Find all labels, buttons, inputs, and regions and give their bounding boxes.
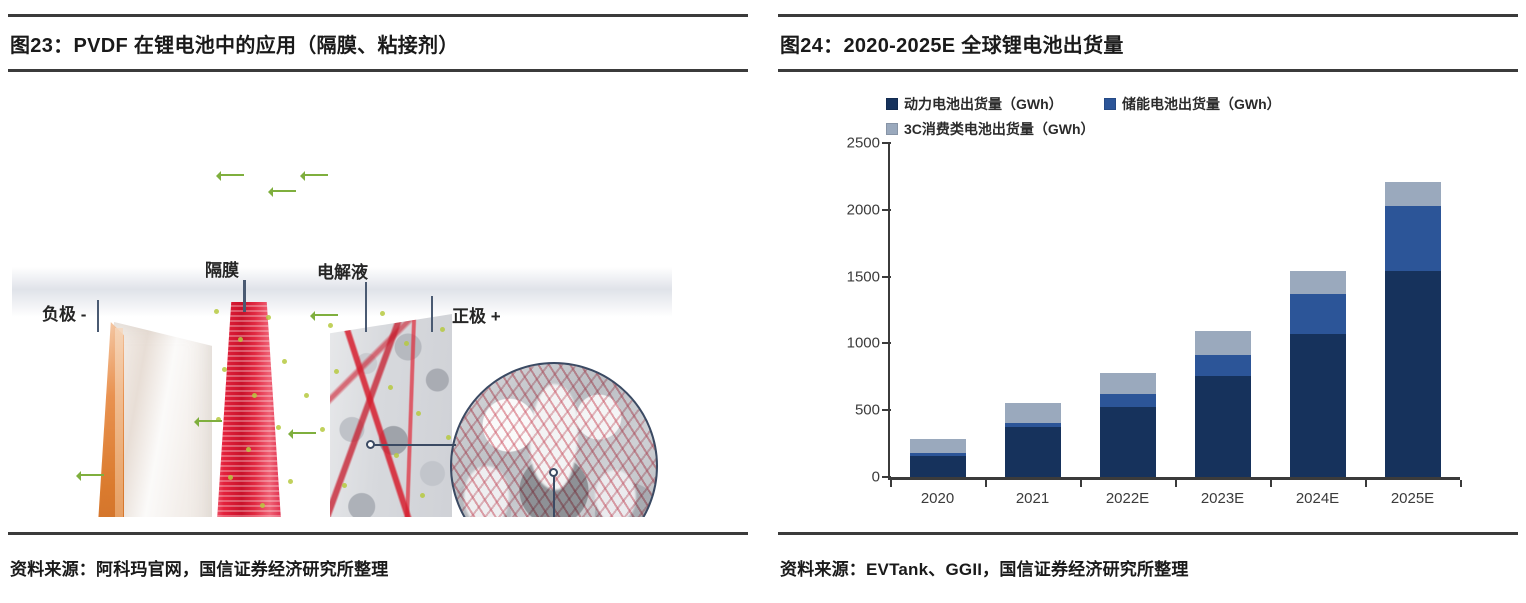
label-separator: 隔膜 bbox=[205, 256, 239, 281]
panel-source-rule bbox=[778, 532, 1518, 535]
legend-label-consumer-3c: 3C消费类电池出货量（GWh） bbox=[904, 119, 1095, 139]
magnifier-leader bbox=[553, 472, 555, 517]
legend-item-energy-storage[interactable]: 储能电池出货量（GWh） bbox=[1104, 94, 1281, 114]
figure-24-source: 资料来源：EVTank、GGII，国信证券经济研究所整理 bbox=[780, 555, 1189, 580]
x-axis-tick bbox=[985, 480, 987, 487]
y-axis-tick-label: 500 bbox=[855, 402, 880, 419]
x-axis-ticks bbox=[890, 480, 1460, 490]
y-axis-tick-label: 1000 bbox=[847, 335, 880, 352]
y-axis-tick-labels: 05001000150020002500 bbox=[818, 80, 880, 520]
ion-flow-arrow bbox=[78, 474, 104, 476]
x-axis-tick-label: 2023E bbox=[1201, 490, 1244, 507]
magnifier-anchor-point bbox=[549, 468, 558, 477]
anode-collector-highlight bbox=[115, 328, 123, 517]
x-axis-tick bbox=[1080, 480, 1082, 487]
bar-column[interactable] bbox=[1290, 271, 1346, 477]
bar-column[interactable] bbox=[1005, 403, 1061, 477]
bar-segment[interactable] bbox=[1195, 376, 1251, 477]
stacked-bar-chart: 动力电池出货量（GWh） 储能电池出货量（GWh） 3C消费类电池出货量（GWh… bbox=[778, 80, 1518, 520]
x-axis-tick bbox=[1365, 480, 1367, 487]
legend-swatch-energy-storage bbox=[1104, 98, 1116, 110]
y-axis-tick-label: 2500 bbox=[847, 135, 880, 152]
ion-flow-arrow bbox=[290, 432, 316, 434]
ion-flow-arrow bbox=[302, 174, 328, 176]
legend-item-consumer-3c[interactable]: 3C消费类电池出货量（GWh） bbox=[886, 119, 1095, 139]
legend-swatch-consumer-3c bbox=[886, 123, 898, 135]
bar-column[interactable] bbox=[1385, 182, 1441, 477]
x-axis-tick-label: 2025E bbox=[1391, 490, 1434, 507]
panel-top-rule bbox=[778, 14, 1518, 17]
x-axis-tick-label: 2020 bbox=[921, 490, 954, 507]
bar-column[interactable] bbox=[1195, 331, 1251, 477]
figure-23-source: 资料来源：阿科玛官网，国信证券经济研究所整理 bbox=[10, 555, 388, 580]
x-axis-tick bbox=[1270, 480, 1272, 487]
bar-series-group bbox=[890, 143, 1460, 477]
bar-segment[interactable] bbox=[1290, 294, 1346, 334]
report-page: 图23：PVDF 在锂电池中的应用（隔膜、粘接剂） bbox=[0, 0, 1526, 603]
figure-panel-23: 图23：PVDF 在锂电池中的应用（隔膜、粘接剂） bbox=[8, 0, 748, 603]
bar-column[interactable] bbox=[910, 439, 966, 477]
bar-segment[interactable] bbox=[1290, 271, 1346, 294]
panel-title-rule bbox=[8, 69, 748, 72]
x-axis-tick-labels: 202020212022E2023E2024E2025E bbox=[890, 490, 1460, 514]
bar-segment[interactable] bbox=[910, 456, 966, 477]
magnifier-anchor-point bbox=[366, 440, 375, 449]
x-axis-tick-label: 2024E bbox=[1296, 490, 1339, 507]
x-axis-tick-label: 2022E bbox=[1106, 490, 1149, 507]
bar-column[interactable] bbox=[1100, 373, 1156, 477]
bar-segment[interactable] bbox=[1195, 355, 1251, 376]
battery-schematic-image: 负极 - 隔膜 电解液 正极 + KYNAR® ARKEMA PVDF涂敷隔膜 bbox=[12, 132, 672, 517]
bar-segment[interactable] bbox=[1290, 334, 1346, 477]
bar-segment[interactable] bbox=[1100, 394, 1156, 407]
label-anode: 负极 - bbox=[42, 300, 86, 325]
bar-segment[interactable] bbox=[1195, 331, 1251, 355]
panel-top-rule bbox=[8, 14, 748, 17]
y-axis-tick-label: 0 bbox=[872, 469, 880, 486]
x-axis-tick bbox=[890, 480, 892, 487]
label-leader-cathode bbox=[431, 296, 433, 332]
page-title-figure-23: 图23：PVDF 在锂电池中的应用（隔膜、粘接剂） bbox=[10, 29, 459, 58]
y-axis-tick-label: 2000 bbox=[847, 201, 880, 218]
magnifier-leader bbox=[370, 444, 456, 446]
legend-item-power-battery[interactable]: 动力电池出货量（GWh） bbox=[886, 94, 1104, 114]
y-axis-tick-label: 1500 bbox=[847, 268, 880, 285]
bar-segment[interactable] bbox=[1005, 427, 1061, 477]
label-leader-electrolyte bbox=[365, 282, 367, 332]
bar-segment[interactable] bbox=[1100, 373, 1156, 394]
legend-label-power-battery: 动力电池出货量（GWh） bbox=[904, 94, 1063, 114]
chart-legend: 动力电池出货量（GWh） 储能电池出货量（GWh） 3C消费类电池出货量（GWh… bbox=[886, 94, 1496, 139]
bar-segment[interactable] bbox=[1385, 206, 1441, 270]
legend-label-energy-storage: 储能电池出货量（GWh） bbox=[1122, 94, 1281, 114]
label-cathode: 正极 + bbox=[452, 302, 501, 327]
label-leader-anode bbox=[97, 300, 99, 332]
page-title-figure-24: 图24：2020-2025E 全球锂电池出货量 bbox=[780, 29, 1124, 58]
bar-segment[interactable] bbox=[1385, 182, 1441, 207]
bar-segment[interactable] bbox=[1385, 271, 1441, 477]
panel-title-rule bbox=[778, 69, 1518, 72]
ion-flow-arrow bbox=[218, 174, 244, 176]
ion-flow-arrow bbox=[312, 314, 338, 316]
bar-segment[interactable] bbox=[1005, 403, 1061, 423]
x-axis-tick-label: 2021 bbox=[1016, 490, 1049, 507]
figure-panel-24: 图24：2020-2025E 全球锂电池出货量 动力电池出货量（GWh） 储能电… bbox=[778, 0, 1518, 603]
ion-flow-arrow bbox=[270, 190, 296, 192]
legend-swatch-power-battery bbox=[886, 98, 898, 110]
x-axis-tick bbox=[1460, 480, 1462, 487]
bar-segment[interactable] bbox=[910, 439, 966, 453]
ion-flow-arrow bbox=[196, 420, 222, 422]
x-axis-tick bbox=[1175, 480, 1177, 487]
bar-segment[interactable] bbox=[1100, 407, 1156, 477]
label-electrolyte: 电解液 bbox=[317, 258, 368, 283]
panel-source-rule bbox=[8, 532, 748, 535]
